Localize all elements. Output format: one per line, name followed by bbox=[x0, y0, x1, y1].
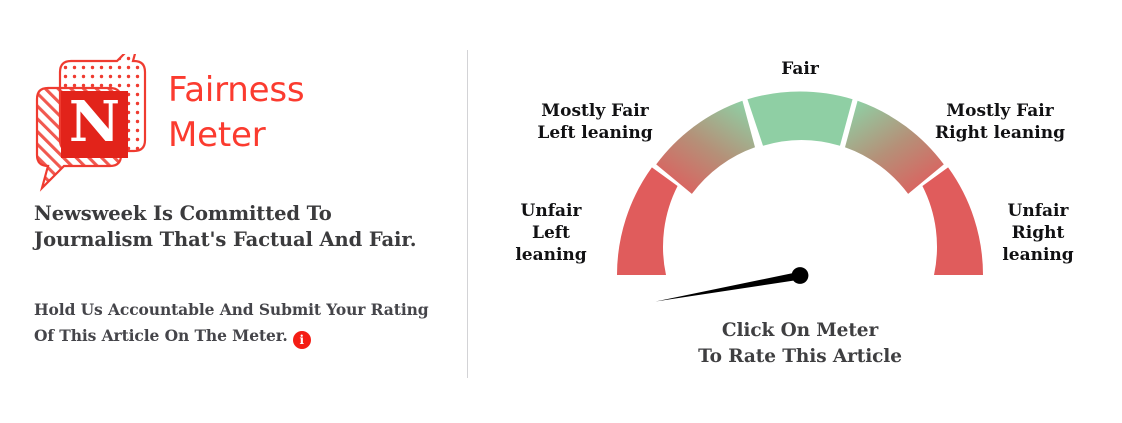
accountability-subline-text: Hold Us Accountable And Submit Your Rati… bbox=[34, 300, 429, 345]
fairness-meter-widget: N Fairness Meter Newsweek Is Committed T… bbox=[0, 0, 1122, 423]
gauge-label-mostly-fair-left: Mostly Fair Left leaning bbox=[515, 100, 675, 144]
brand-row: N Fairness Meter bbox=[34, 54, 304, 192]
gauge-label-fair: Fair bbox=[745, 58, 855, 80]
gauge-segment-fair[interactable] bbox=[747, 92, 852, 146]
info-icon[interactable]: i bbox=[293, 331, 311, 349]
gauge-panel[interactable]: Fair Mostly Fair Left leaning Mostly Fai… bbox=[467, 0, 1122, 423]
gauge-label-unfair-left: Unfair Left leaning bbox=[505, 200, 597, 266]
rate-article-cta[interactable]: Click On Meter To Rate This Article bbox=[620, 318, 980, 369]
gauge-needle[interactable] bbox=[656, 267, 809, 301]
newsweek-n-logo-icon: N bbox=[34, 54, 152, 192]
svg-text:N: N bbox=[69, 89, 120, 155]
left-panel: N Fairness Meter Newsweek Is Committed T… bbox=[0, 0, 467, 423]
commitment-headline: Newsweek Is Committed To Journalism That… bbox=[34, 201, 426, 252]
gauge-segment-unfair-right[interactable] bbox=[922, 167, 983, 275]
gauge-segment-unfair-left[interactable] bbox=[617, 167, 678, 275]
gauge-label-unfair-right: Unfair Right leaning bbox=[989, 200, 1087, 266]
page-title: Fairness Meter bbox=[168, 68, 304, 158]
gauge-label-mostly-fair-right: Mostly Fair Right leaning bbox=[915, 100, 1085, 144]
gauge-needle-pivot[interactable] bbox=[792, 267, 809, 284]
accountability-subline: Hold Us Accountable And Submit Your Rati… bbox=[34, 297, 434, 349]
